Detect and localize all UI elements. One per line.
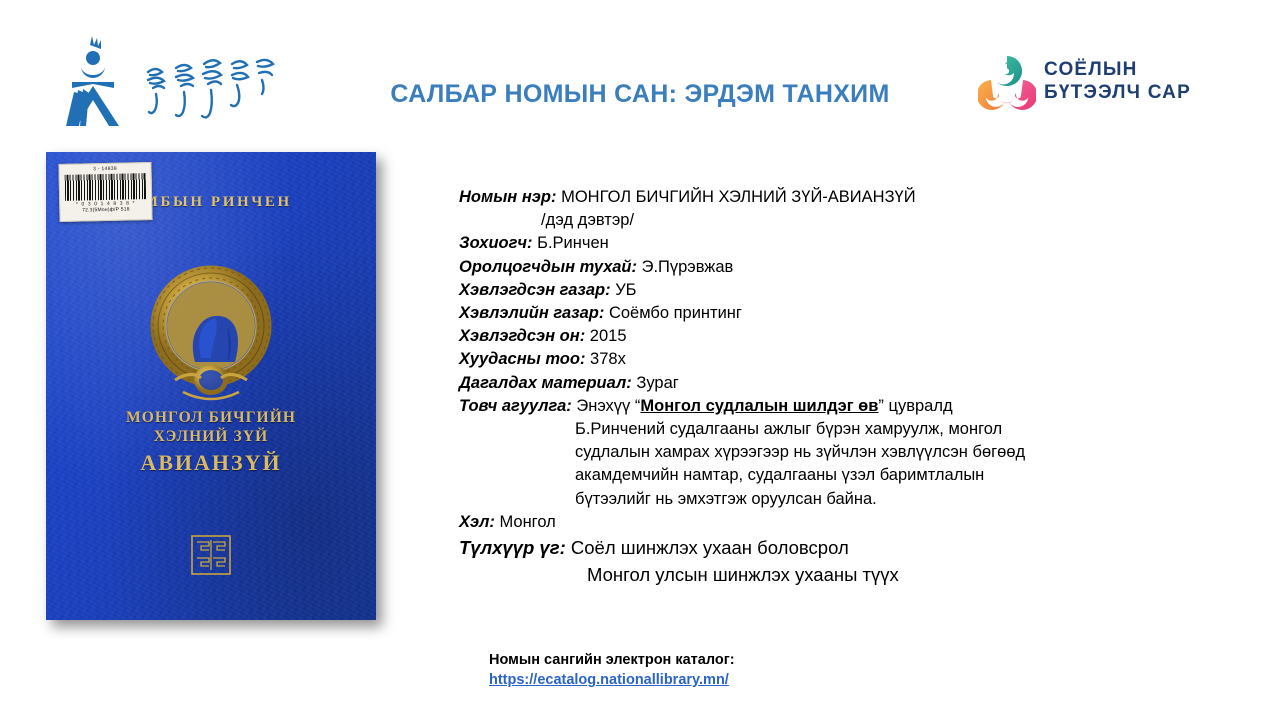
- meta-value-material: Зураг: [636, 374, 678, 392]
- page-title: САЛБАР НОМЫН САН: ЭРДЭМ ТАНХИМ: [300, 80, 980, 109]
- gold-medallion-emblem: [145, 264, 277, 410]
- meta-value-language: Монгол: [499, 513, 555, 531]
- meta-label-year: Хэвлэгдсэн он:: [459, 327, 585, 345]
- meta-value-contributors: Э.Пүрэвжав: [642, 258, 734, 276]
- barcode-bars: [65, 173, 147, 201]
- creative-month-swirl-icon: [978, 54, 1036, 114]
- meta-row-language: Хэл: Монгол: [459, 511, 1099, 534]
- cover-seal-stamp-icon: [190, 534, 232, 576]
- meta-label-language: Хэл:: [459, 513, 495, 531]
- library-barcode-label: 3 - 14838 * 0 3 0 1 4 8 3 8 * 72.3(5Мон)…: [58, 162, 152, 222]
- meta-row-place: Хэвлэгдсэн газар: УБ: [459, 279, 1099, 302]
- footer-caption: Номын сангийн электрон каталог:: [489, 652, 735, 668]
- meta-value-author: Б.Ринчен: [537, 234, 609, 252]
- national-library-logo: [52, 28, 282, 140]
- meta-label-pages: Хуудасны тоо:: [459, 350, 585, 368]
- meta-value-title: МОНГОЛ БИЧГИЙН ХЭЛНИЙ ЗҮЙ-АВИАНЗҮЙ: [561, 188, 916, 206]
- meta-row-title: Номын нэр: МОНГОЛ БИЧГИЙН ХЭЛНИЙ ЗҮЙ-АВИ…: [459, 186, 1099, 209]
- meta-label-publisher: Хэвлэлийн газар:: [459, 304, 604, 322]
- meta-label-summary: Товч агуулга:: [459, 397, 572, 415]
- meta-row-year: Хэвлэгдсэн он: 2015: [459, 325, 1099, 348]
- meta-row-subtitle: /дэд дэвтэр/: [459, 209, 1099, 232]
- book-metadata-block: Номын нэр: МОНГОЛ БИЧГИЙН ХЭЛНИЙ ЗҮЙ-АВИ…: [459, 186, 1099, 588]
- cover-title-line-1: МОНГОЛ БИЧГИЙН: [46, 408, 376, 427]
- book-cover-image: ЯМБЫН РИНЧЕН 3 - 14838 * 0 3 0 1 4 8 3 8…: [46, 152, 376, 620]
- meta-label-author: Зохиогч:: [459, 234, 533, 252]
- meta-label-contributors: Оролцогчдын тухай:: [459, 258, 637, 276]
- barcode-call-number: 72.3(5Мон)ф/Р 518: [60, 206, 151, 214]
- meta-label-place: Хэвлэгдсэн газар:: [459, 281, 611, 299]
- ecatalog-url-link[interactable]: https://ecatalog.nationallibrary.mn/: [489, 670, 735, 690]
- cover-title-line-3: АВИАНЗҮЙ: [46, 448, 376, 478]
- meta-row-pages: Хуудасны тоо: 378х: [459, 348, 1099, 371]
- meta-summary-line-3: судлалын хамрах хүрээгээр нь зүйчлэн хэв…: [459, 441, 1099, 464]
- campaign-line-1: СОЁЛЫН: [1044, 59, 1138, 80]
- meta-keywords-line-2: Монгол улсын шинжлэх ухааны түүх: [459, 561, 1099, 588]
- meta-label-material: Дагалдах материал:: [459, 374, 632, 392]
- meta-summary-line-2: Б.Ринчений судалгааны ажлыг бүрэн хамруу…: [459, 418, 1099, 441]
- meta-summary-line-4: акамдемчийн намтар, судалгааны үзэл бари…: [459, 464, 1099, 487]
- meta-value-publisher: Соёмбо принтинг: [609, 304, 742, 322]
- meta-row-author: Зохиогч: Б.Ринчен: [459, 232, 1099, 255]
- meta-summary-post: ” цувралд: [878, 397, 952, 415]
- meta-summary-line-5: бүтээлийг нь эмхэтгэж оруулсан байна.: [459, 488, 1099, 511]
- footer-catalog-link: Номын сангийн электрон каталог: https://…: [489, 650, 735, 690]
- meta-value-year: 2015: [590, 327, 627, 345]
- slide-canvas: САЛБАР НОМЫН САН: ЭРДЭМ ТАНХИМ: [0, 0, 1280, 720]
- meta-value-place: УБ: [615, 281, 636, 299]
- meta-row-keywords: Түлхүүр үг: Соёл шинжлэх ухаан боловсрол: [459, 534, 1099, 561]
- meta-value-subtitle: /дэд дэвтэр/: [541, 211, 634, 229]
- meta-summary-pre: Энэхүү “: [576, 397, 640, 415]
- meta-keywords-line-1: Соёл шинжлэх ухаан боловсрол: [571, 537, 849, 558]
- book-cover-title: МОНГОЛ БИЧГИЙН ХЭЛНИЙ ЗҮЙ АВИАНЗҮЙ: [46, 408, 376, 478]
- campaign-line-2: БҮТЭЭЛЧ САР: [1044, 82, 1191, 103]
- meta-row-contributors: Оролцогчдын тухай: Э.Пүрэвжав: [459, 256, 1099, 279]
- meta-row-summary: Товч агуулга: Энэхүү “Монгол судлалын ши…: [459, 395, 1099, 418]
- meta-label-keywords: Түлхүүр үг:: [459, 537, 566, 558]
- campaign-logo: СОЁЛЫН БҮТЭЭЛЧ САР: [978, 50, 1206, 120]
- meta-row-material: Дагалдах материал: Зураг: [459, 372, 1099, 395]
- cover-title-line-2: ХЭЛНИЙ ЗҮЙ: [46, 427, 376, 446]
- meta-row-publisher: Хэвлэлийн газар: Соёмбо принтинг: [459, 302, 1099, 325]
- campaign-logo-text: СОЁЛЫН БҮТЭЭЛЧ САР: [1044, 58, 1191, 104]
- barcode-top-number: 3 - 14838: [59, 165, 150, 173]
- meta-label-title: Номын нэр:: [459, 188, 557, 206]
- meta-summary-series-name: Монгол судлалын шилдэг өв: [640, 397, 878, 415]
- meta-value-pages: 378х: [590, 350, 626, 368]
